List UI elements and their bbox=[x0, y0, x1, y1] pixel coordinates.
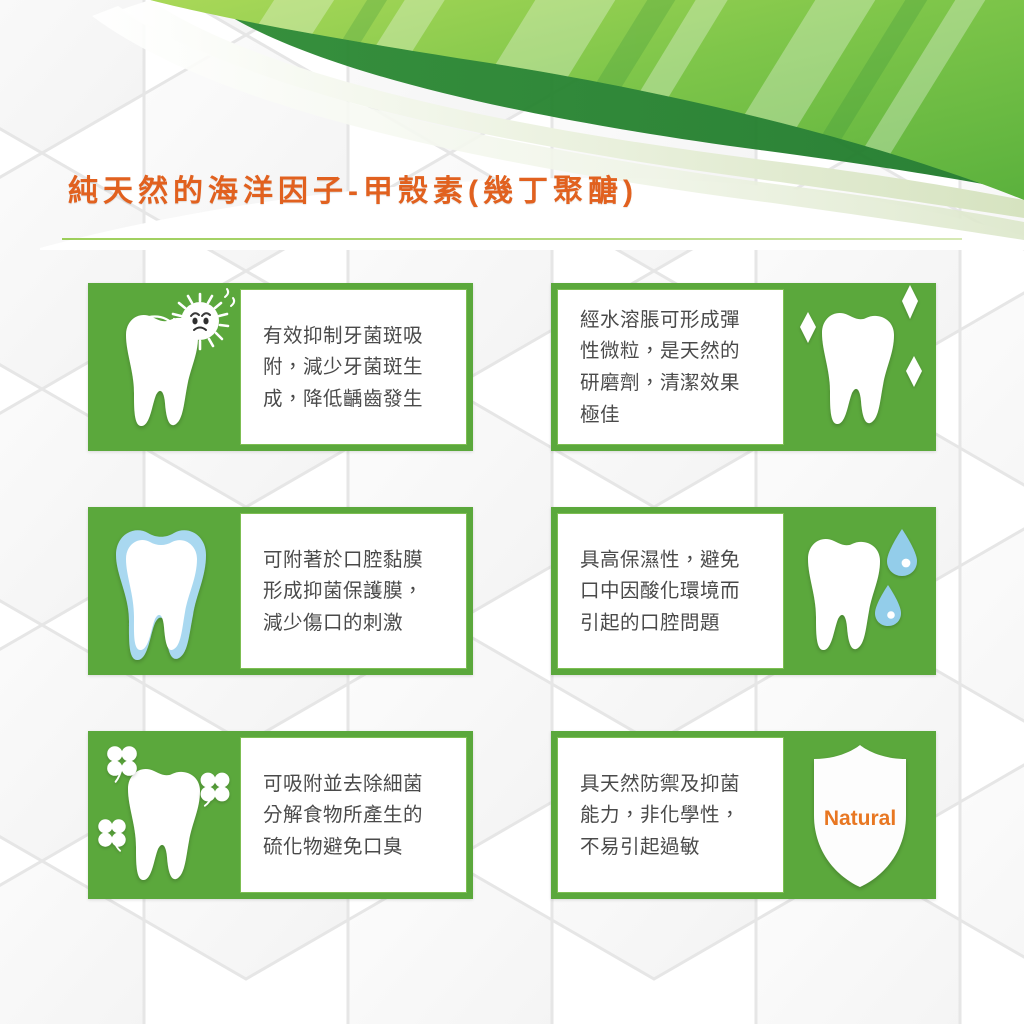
card-text-line: 引起的口腔問題 bbox=[580, 607, 740, 639]
card-text: 具高保濕性，避免 口中因酸化環境而 引起的口腔問題 bbox=[580, 544, 740, 639]
benefit-card[interactable]: 經水溶脹可形成彈 性微粒，是天然的 研磨劑，清潔效果 極佳 bbox=[551, 283, 936, 451]
card-text-line: 可附著於口腔黏膜 bbox=[263, 544, 423, 576]
card-text-line: 形成抑菌保護膜， bbox=[263, 575, 423, 607]
card-text: 可吸附並去除細菌 分解食物所產生的 硫化物避免口臭 bbox=[263, 768, 423, 863]
card-text-line: 可吸附並去除細菌 bbox=[263, 768, 423, 800]
page-title: 純天然的海洋因子-甲殼素(幾丁聚醣) bbox=[0, 175, 1024, 208]
tooth-with-clovers-icon bbox=[88, 731, 240, 899]
card-text-panel: 具高保濕性，避免 口中因酸化環境而 引起的口腔問題 bbox=[557, 513, 784, 669]
header-banner-art bbox=[0, 0, 1024, 250]
tooth-with-protective-film-icon bbox=[88, 507, 240, 675]
card-text-panel: 經水溶脹可形成彈 性微粒，是天然的 研磨劑，清潔效果 極佳 bbox=[557, 289, 784, 445]
card-text-line: 研磨劑，清潔效果 bbox=[580, 367, 740, 399]
card-text-panel: 可附著於口腔黏膜 形成抑菌保護膜， 減少傷口的刺激 bbox=[240, 513, 467, 669]
card-text-line: 口中因酸化環境而 bbox=[580, 575, 740, 607]
card-text-panel: 有效抑制牙菌斑吸 附，減少牙菌斑生 成，降低齲齒發生 bbox=[240, 289, 467, 445]
card-text: 可附著於口腔黏膜 形成抑菌保護膜， 減少傷口的刺激 bbox=[263, 544, 423, 639]
card-text-line: 性微粒，是天然的 bbox=[580, 335, 740, 367]
card-text-line: 極佳 bbox=[580, 399, 740, 431]
card-text-line: 具天然防禦及抑菌 bbox=[580, 768, 740, 800]
card-text-line: 成，降低齲齒發生 bbox=[263, 383, 423, 415]
card-text: 具天然防禦及抑菌 能力，非化學性， 不易引起過敏 bbox=[580, 768, 740, 863]
card-text-line: 有效抑制牙菌斑吸 bbox=[263, 320, 423, 352]
card-text-line: 硫化物避免口臭 bbox=[263, 831, 423, 863]
card-text-line: 附，減少牙菌斑生 bbox=[263, 351, 423, 383]
benefit-card[interactable]: 有效抑制牙菌斑吸 附，減少牙菌斑生 成，降低齲齒發生 bbox=[88, 283, 473, 451]
card-text-line: 經水溶脹可形成彈 bbox=[580, 304, 740, 336]
title-block: 純天然的海洋因子-甲殼素(幾丁聚醣) bbox=[0, 175, 1024, 208]
benefit-card[interactable]: 可吸附並去除細菌 分解食物所產生的 硫化物避免口臭 bbox=[88, 731, 473, 899]
sparkling-tooth-icon bbox=[784, 283, 936, 451]
card-text-line: 減少傷口的刺激 bbox=[263, 607, 423, 639]
tooth-with-bacteria-icon bbox=[88, 283, 240, 451]
tooth-with-water-droplets-icon bbox=[784, 507, 936, 675]
card-text-line: 能力，非化學性， bbox=[580, 799, 740, 831]
title-divider bbox=[62, 238, 962, 240]
benefit-card[interactable]: 具高保濕性，避免 口中因酸化環境而 引起的口腔問題 bbox=[551, 507, 936, 675]
card-text-panel: 可吸附並去除細菌 分解食物所產生的 硫化物避免口臭 bbox=[240, 737, 467, 893]
card-text: 有效抑制牙菌斑吸 附，減少牙菌斑生 成，降低齲齒發生 bbox=[263, 320, 423, 415]
water-droplet bbox=[875, 529, 917, 626]
card-text-line: 分解食物所產生的 bbox=[263, 799, 423, 831]
natural-shield-icon: Natural bbox=[784, 731, 936, 899]
card-text: 經水溶脹可形成彈 性微粒，是天然的 研磨劑，清潔效果 極佳 bbox=[580, 304, 740, 430]
benefit-card[interactable]: 可附著於口腔黏膜 形成抑菌保護膜， 減少傷口的刺激 bbox=[88, 507, 473, 675]
card-text-line: 具高保濕性，避免 bbox=[580, 544, 740, 576]
benefit-card-grid: 有效抑制牙菌斑吸 附，減少牙菌斑生 成，降低齲齒發生 經水溶脹可形成彈 性微粒，… bbox=[88, 283, 936, 899]
benefit-card[interactable]: 具天然防禦及抑菌 能力，非化學性， 不易引起過敏 Natural bbox=[551, 731, 936, 899]
shield-label: Natural bbox=[824, 807, 896, 830]
card-text-panel: 具天然防禦及抑菌 能力，非化學性， 不易引起過敏 bbox=[557, 737, 784, 893]
card-text-line: 不易引起過敏 bbox=[580, 831, 740, 863]
